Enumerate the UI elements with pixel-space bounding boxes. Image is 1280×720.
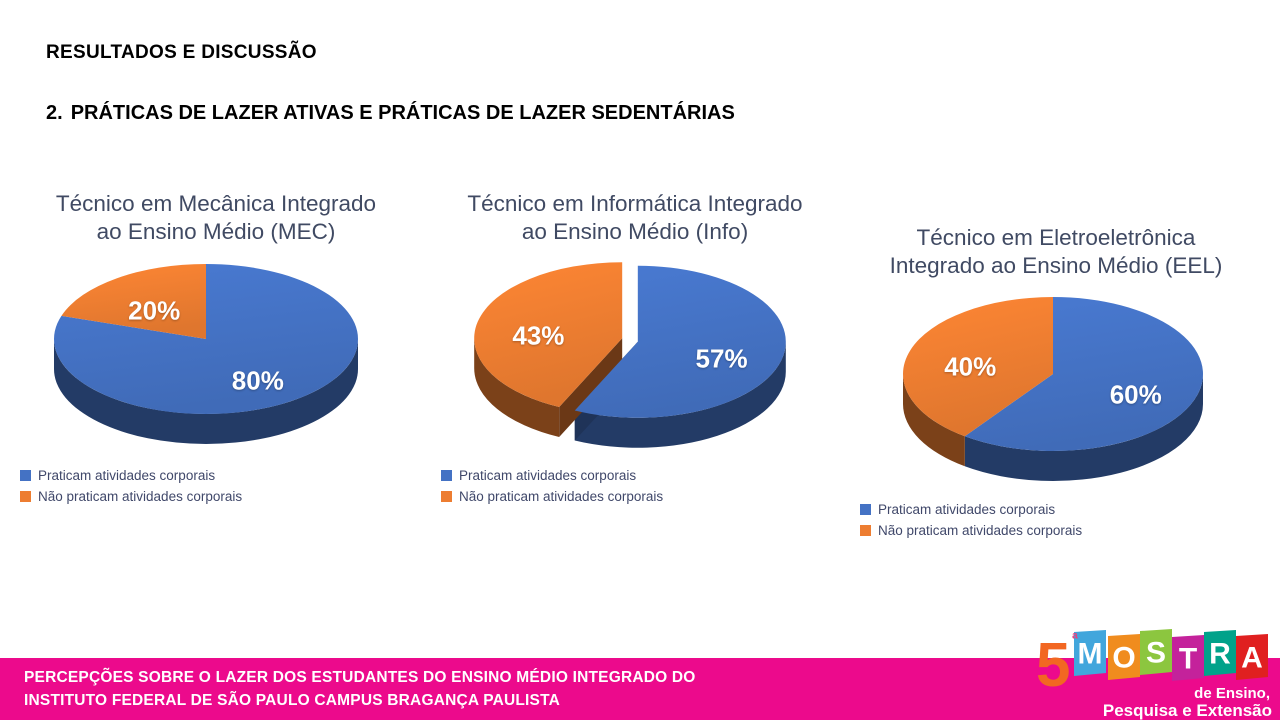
- slide-canvas: RESULTADOS E DISCUSSÃO 2.PRÁTICAS DE LAZ…: [0, 0, 1280, 720]
- logo-letter-tile-m: M: [1074, 630, 1106, 676]
- page-title: RESULTADOS E DISCUSSÃO: [46, 42, 317, 64]
- pie-graphic: 57%43%: [470, 254, 800, 454]
- chart-title: Técnico em Eletroeletrônica Integrado ao…: [838, 224, 1274, 280]
- subheading-text: PRÁTICAS DE LAZER ATIVAS E PRÁTICAS DE L…: [71, 102, 735, 124]
- legend-item[interactable]: Não praticam atividades corporais: [20, 489, 242, 504]
- pie-chart-mec: Técnico em Mecânica Integrado ao Ensino …: [6, 190, 426, 504]
- logo-letter-tile-t: T: [1172, 635, 1204, 681]
- logo-tagline-line2: Pesquisa e Extensão: [1103, 701, 1272, 720]
- chart-legend: Praticam atividades corporaisNão pratica…: [441, 468, 663, 504]
- legend-label: Não praticam atividades corporais: [38, 489, 242, 504]
- subheading-number: 2.: [46, 102, 63, 124]
- legend-label: Praticam atividades corporais: [38, 468, 215, 483]
- legend-item[interactable]: Praticam atividades corporais: [860, 502, 1082, 517]
- chart-legend: Praticam atividades corporaisNão pratica…: [20, 468, 242, 504]
- legend-item[interactable]: Praticam atividades corporais: [20, 468, 242, 483]
- footer-banner-text: PERCEPÇÕES SOBRE O LAZER DOS ESTUDANTES …: [24, 667, 696, 713]
- logo-letter: S: [1146, 637, 1166, 670]
- logo-letter: T: [1179, 643, 1197, 676]
- legend-label: Não praticam atividades corporais: [459, 489, 663, 504]
- logo-letter-tile-r: R: [1204, 630, 1236, 676]
- logo-tagline-line1: de Ensino,: [1194, 685, 1270, 702]
- legend-swatch-icon: [860, 504, 871, 515]
- legend-swatch-icon: [441, 470, 452, 481]
- legend-label: Praticam atividades corporais: [878, 502, 1055, 517]
- chart-title: Técnico em Mecânica Integrado ao Ensino …: [6, 190, 426, 246]
- pie-chart-info: Técnico em Informática Integrado ao Ensi…: [425, 190, 845, 504]
- logo-letter: M: [1078, 638, 1103, 671]
- logo-letter: R: [1209, 638, 1231, 671]
- logo-letter-tile-a: A: [1236, 634, 1268, 680]
- logo-letter: A: [1241, 642, 1263, 675]
- logo-letter-tile-o: O: [1108, 634, 1140, 680]
- legend-swatch-icon: [20, 470, 31, 481]
- legend-item[interactable]: Não praticam atividades corporais: [441, 489, 663, 504]
- legend-item[interactable]: Não praticam atividades corporais: [860, 523, 1082, 538]
- legend-label: Praticam atividades corporais: [459, 468, 636, 483]
- subheading: 2.PRÁTICAS DE LAZER ATIVAS E PRÁTICAS DE…: [46, 102, 735, 125]
- logo-ordinal: ª: [1072, 631, 1078, 648]
- legend-label: Não praticam atividades corporais: [878, 523, 1082, 538]
- chart-legend: Praticam atividades corporaisNão pratica…: [860, 502, 1082, 538]
- logo-numeral: 5: [1036, 631, 1070, 700]
- logo-letter-tile-s: S: [1140, 629, 1172, 675]
- pie-graphic: 80%20%: [46, 254, 386, 454]
- legend-swatch-icon: [20, 491, 31, 502]
- logo-letter: O: [1112, 642, 1135, 675]
- chart-title: Técnico em Informática Integrado ao Ensi…: [425, 190, 845, 246]
- legend-swatch-icon: [860, 525, 871, 536]
- mostra-logo: MOSTRA5ªde Ensino,Pesquisa e Extensão: [1026, 628, 1278, 720]
- pie-graphic: 60%40%: [891, 288, 1221, 488]
- legend-swatch-icon: [441, 491, 452, 502]
- legend-item[interactable]: Praticam atividades corporais: [441, 468, 663, 483]
- pie-chart-eel: Técnico em Eletroeletrônica Integrado ao…: [838, 224, 1274, 538]
